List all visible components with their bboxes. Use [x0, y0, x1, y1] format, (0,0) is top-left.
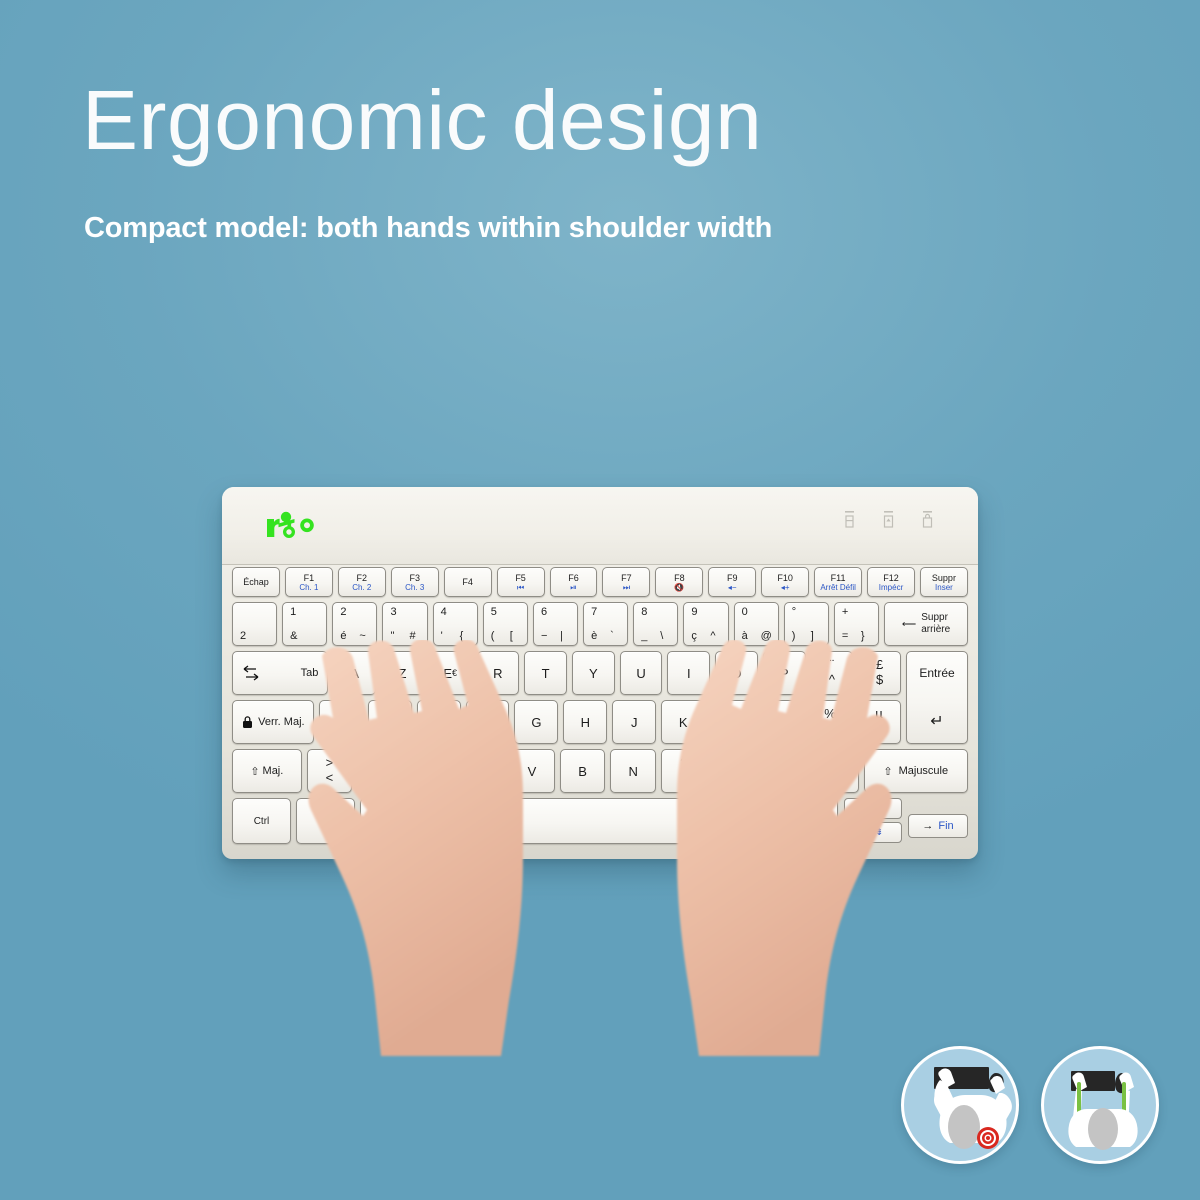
key-f10[interactable]: F10◂+ [761, 567, 809, 597]
caps-lock-icon [882, 511, 895, 528]
key-f11[interactable]: F11Arrêt Défil [814, 567, 862, 597]
bad-posture-illustration [904, 1049, 1022, 1167]
key-f6[interactable]: F6⏯ [550, 567, 598, 597]
key-suppr-inser[interactable]: SupprInser [920, 567, 968, 597]
key-escape[interactable]: Échap [232, 567, 280, 597]
posture-good-badge[interactable] [1041, 1046, 1159, 1164]
key-f12[interactable]: F12Impécr [867, 567, 915, 597]
key-f3[interactable]: F3Ch. 3 [391, 567, 439, 597]
key-f4[interactable]: F4 [444, 567, 492, 597]
num-lock-icon [921, 511, 934, 528]
page-subtitle: Compact model: both hands within shoulde… [84, 212, 772, 245]
key-f1[interactable]: F1Ch. 1 [285, 567, 333, 597]
right-hand [620, 640, 950, 1200]
function-key-row: Échap F1Ch. 1 F2Ch. 2 F3Ch. 3 F4 F5⏮ F6⏯… [232, 567, 968, 597]
status-indicators [843, 511, 934, 528]
head-shape [948, 1105, 980, 1149]
good-posture-illustration [1044, 1049, 1162, 1167]
keyboard-top-bezel [222, 487, 978, 565]
key-f7[interactable]: F7⏭ [602, 567, 650, 597]
key-f5[interactable]: F5⏮ [497, 567, 545, 597]
backspace-arrow-icon: ⟵ [902, 619, 916, 630]
posture-bad-badge[interactable] [901, 1046, 1019, 1164]
poster-background: Ergonomic design Compact model: both han… [0, 0, 1200, 1200]
key-f8[interactable]: F8🔇 [655, 567, 703, 597]
page-title: Ergonomic design [82, 78, 762, 162]
battery-icon [843, 511, 856, 528]
pain-marker-icon [977, 1127, 999, 1149]
key-f2[interactable]: F2Ch. 2 [338, 567, 386, 597]
r-go-logo [265, 509, 321, 543]
key-f9[interactable]: F9◂− [708, 567, 756, 597]
head-shape [1088, 1108, 1118, 1150]
left-hand [250, 640, 580, 1200]
